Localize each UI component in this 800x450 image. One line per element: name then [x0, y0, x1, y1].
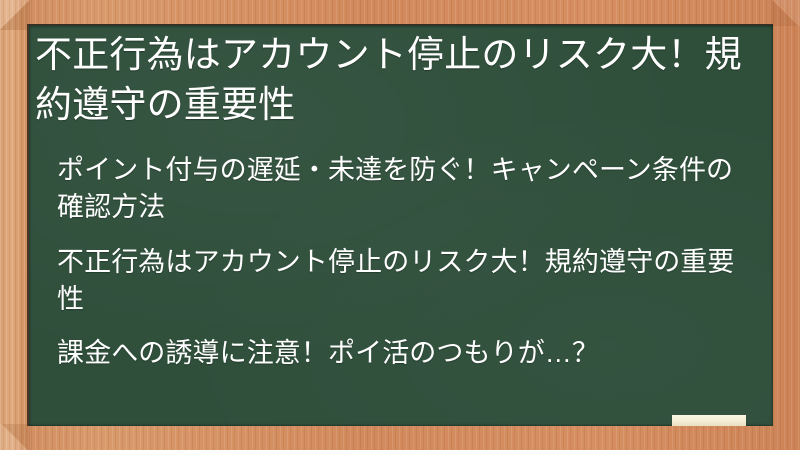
list-item[interactable]: ポイント付与の遅延・未達を防ぐ！キャンペーン条件の確認方法 [57, 152, 757, 227]
chalkboard-surface: 不正行為はアカウント停止のリスク大！規約遵守の重要性 ポイント付与の遅延・未達を… [27, 24, 773, 426]
page-title: 不正行為はアカウント停止のリスク大！規約遵守の重要性 [35, 30, 751, 129]
article-list: ポイント付与の遅延・未達を防ぐ！キャンペーン条件の確認方法 不正行為はアカウント… [57, 152, 757, 372]
chalk-stick-icon [672, 415, 746, 426]
frame-corner-top-right [770, 0, 800, 26]
list-item[interactable]: 不正行為はアカウント停止のリスク大！規約遵守の重要性 [57, 244, 757, 319]
frame-corner-top-left [0, 0, 30, 30]
blackboard-frame: 不正行為はアカウント停止のリスク大！規約遵守の重要性 ポイント付与の遅延・未達を… [0, 0, 800, 450]
frame-corner-bottom-left [0, 424, 30, 450]
frame-left-member [0, 0, 27, 450]
list-item[interactable]: 課金への誘導に注意！ポイ活のつもりが…？ [57, 335, 757, 372]
